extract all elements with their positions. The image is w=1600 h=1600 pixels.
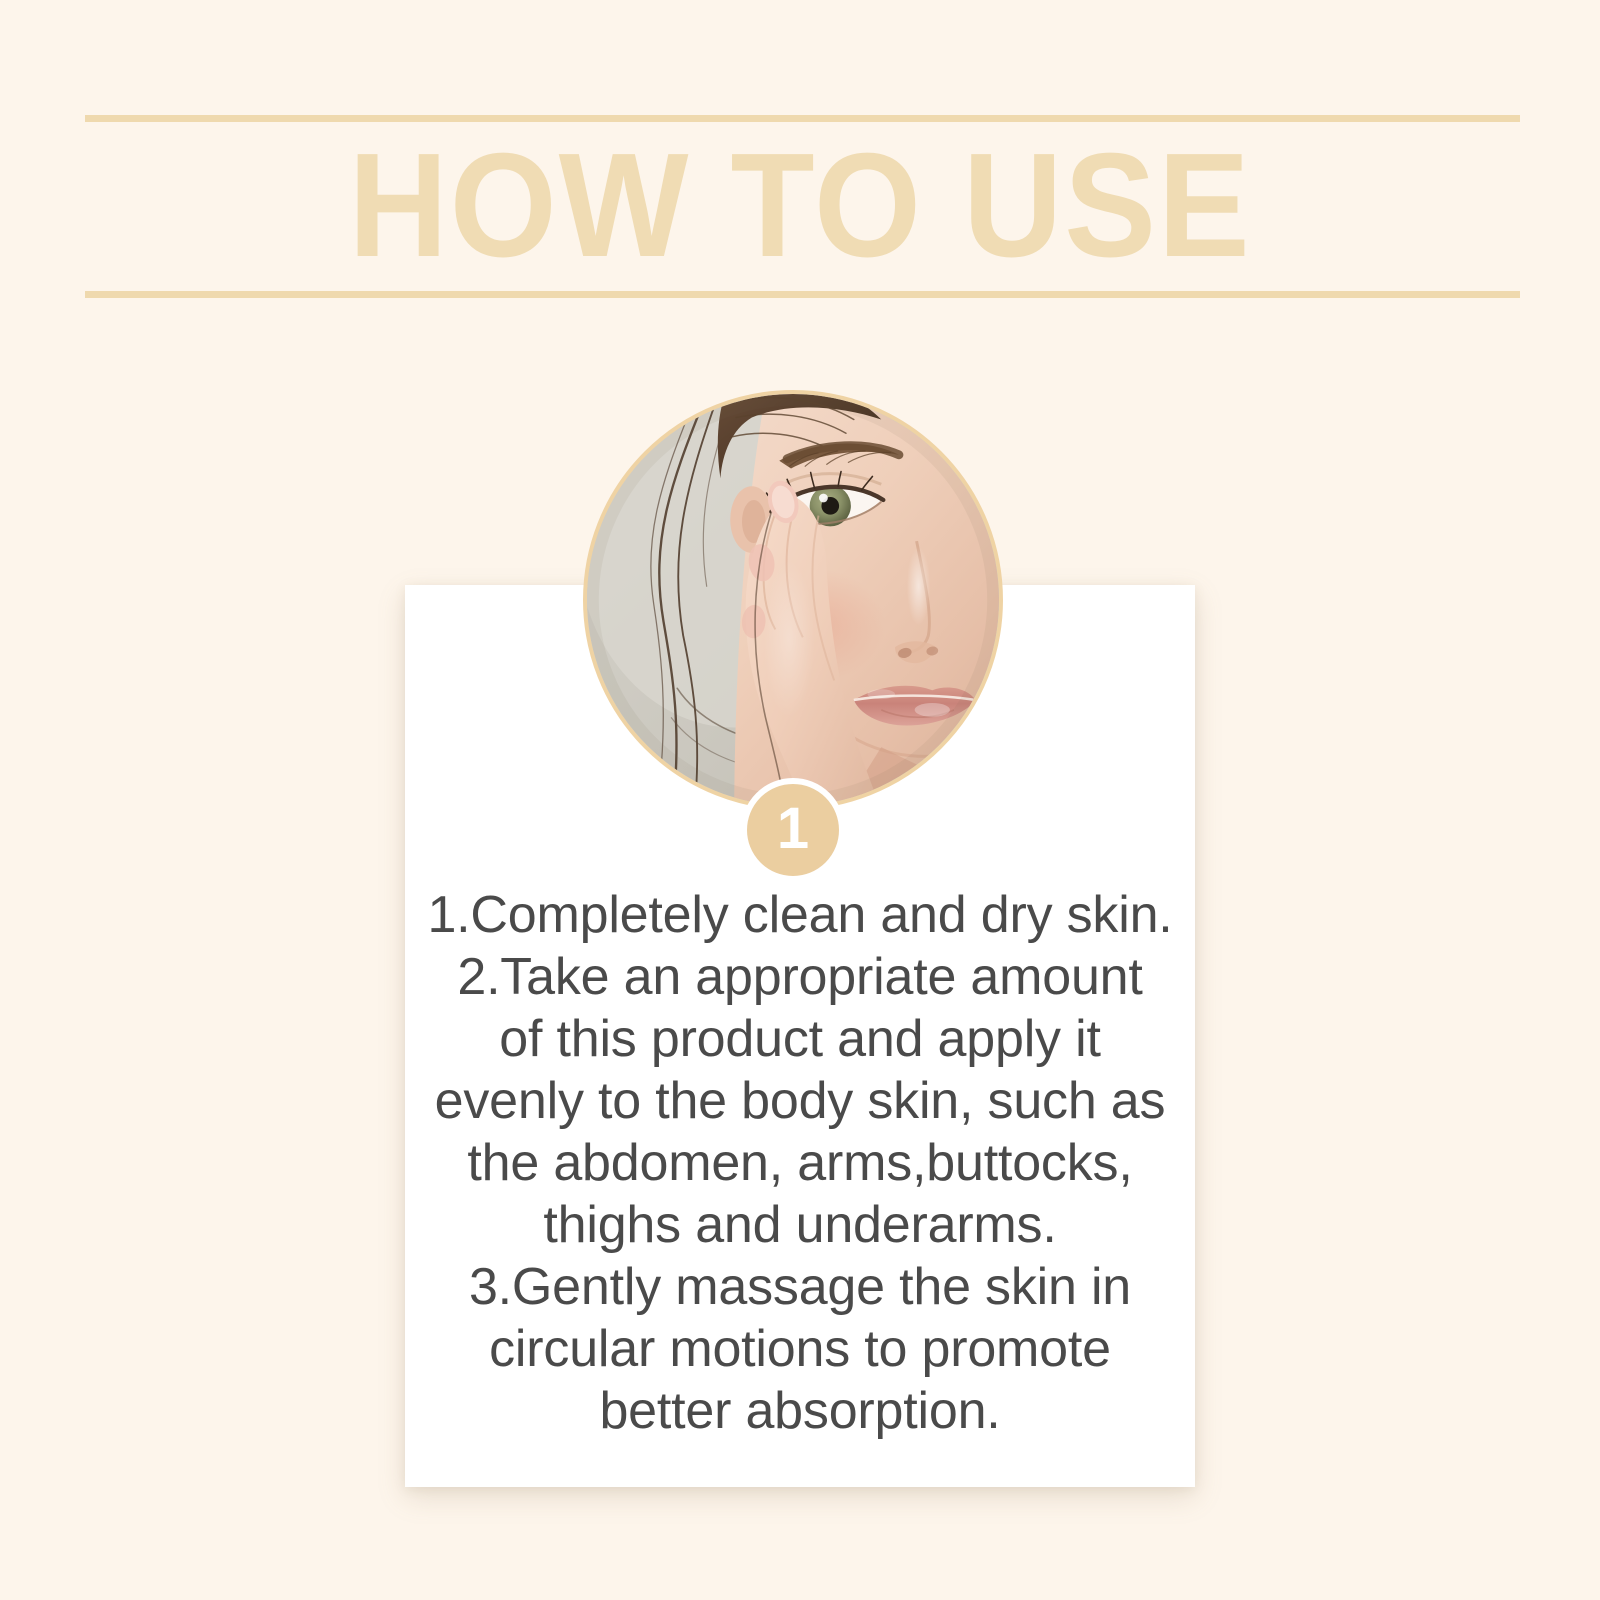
instruction-line: 1.Completely clean and dry skin. [420,884,1180,946]
step-photo-circle [583,390,1003,810]
instruction-line: 2.Take an appropriate amount [420,946,1180,1008]
page-title: HOW TO USE [56,128,1544,284]
instruction-line: the abdomen, arms,buttocks, [420,1132,1180,1194]
step-number-label: 1 [777,800,809,858]
page-header: HOW TO USE [0,0,1600,320]
title-rule-top [85,115,1520,122]
woman-face-portrait-image [587,394,999,806]
instruction-line: evenly to the body skin, such as [420,1070,1180,1132]
instruction-line: 3.Gently massage the skin in [420,1256,1180,1318]
instruction-line: better absorption. [420,1380,1180,1442]
title-rule-bottom [85,291,1520,298]
step-number-badge: 1 [741,778,845,882]
instructions-text: 1.Completely clean and dry skin. 2.Take … [420,884,1180,1442]
instruction-line: thighs and underarms. [420,1194,1180,1256]
instruction-line: circular motions to promote [420,1318,1180,1380]
instruction-line: of this product and apply it [420,1008,1180,1070]
